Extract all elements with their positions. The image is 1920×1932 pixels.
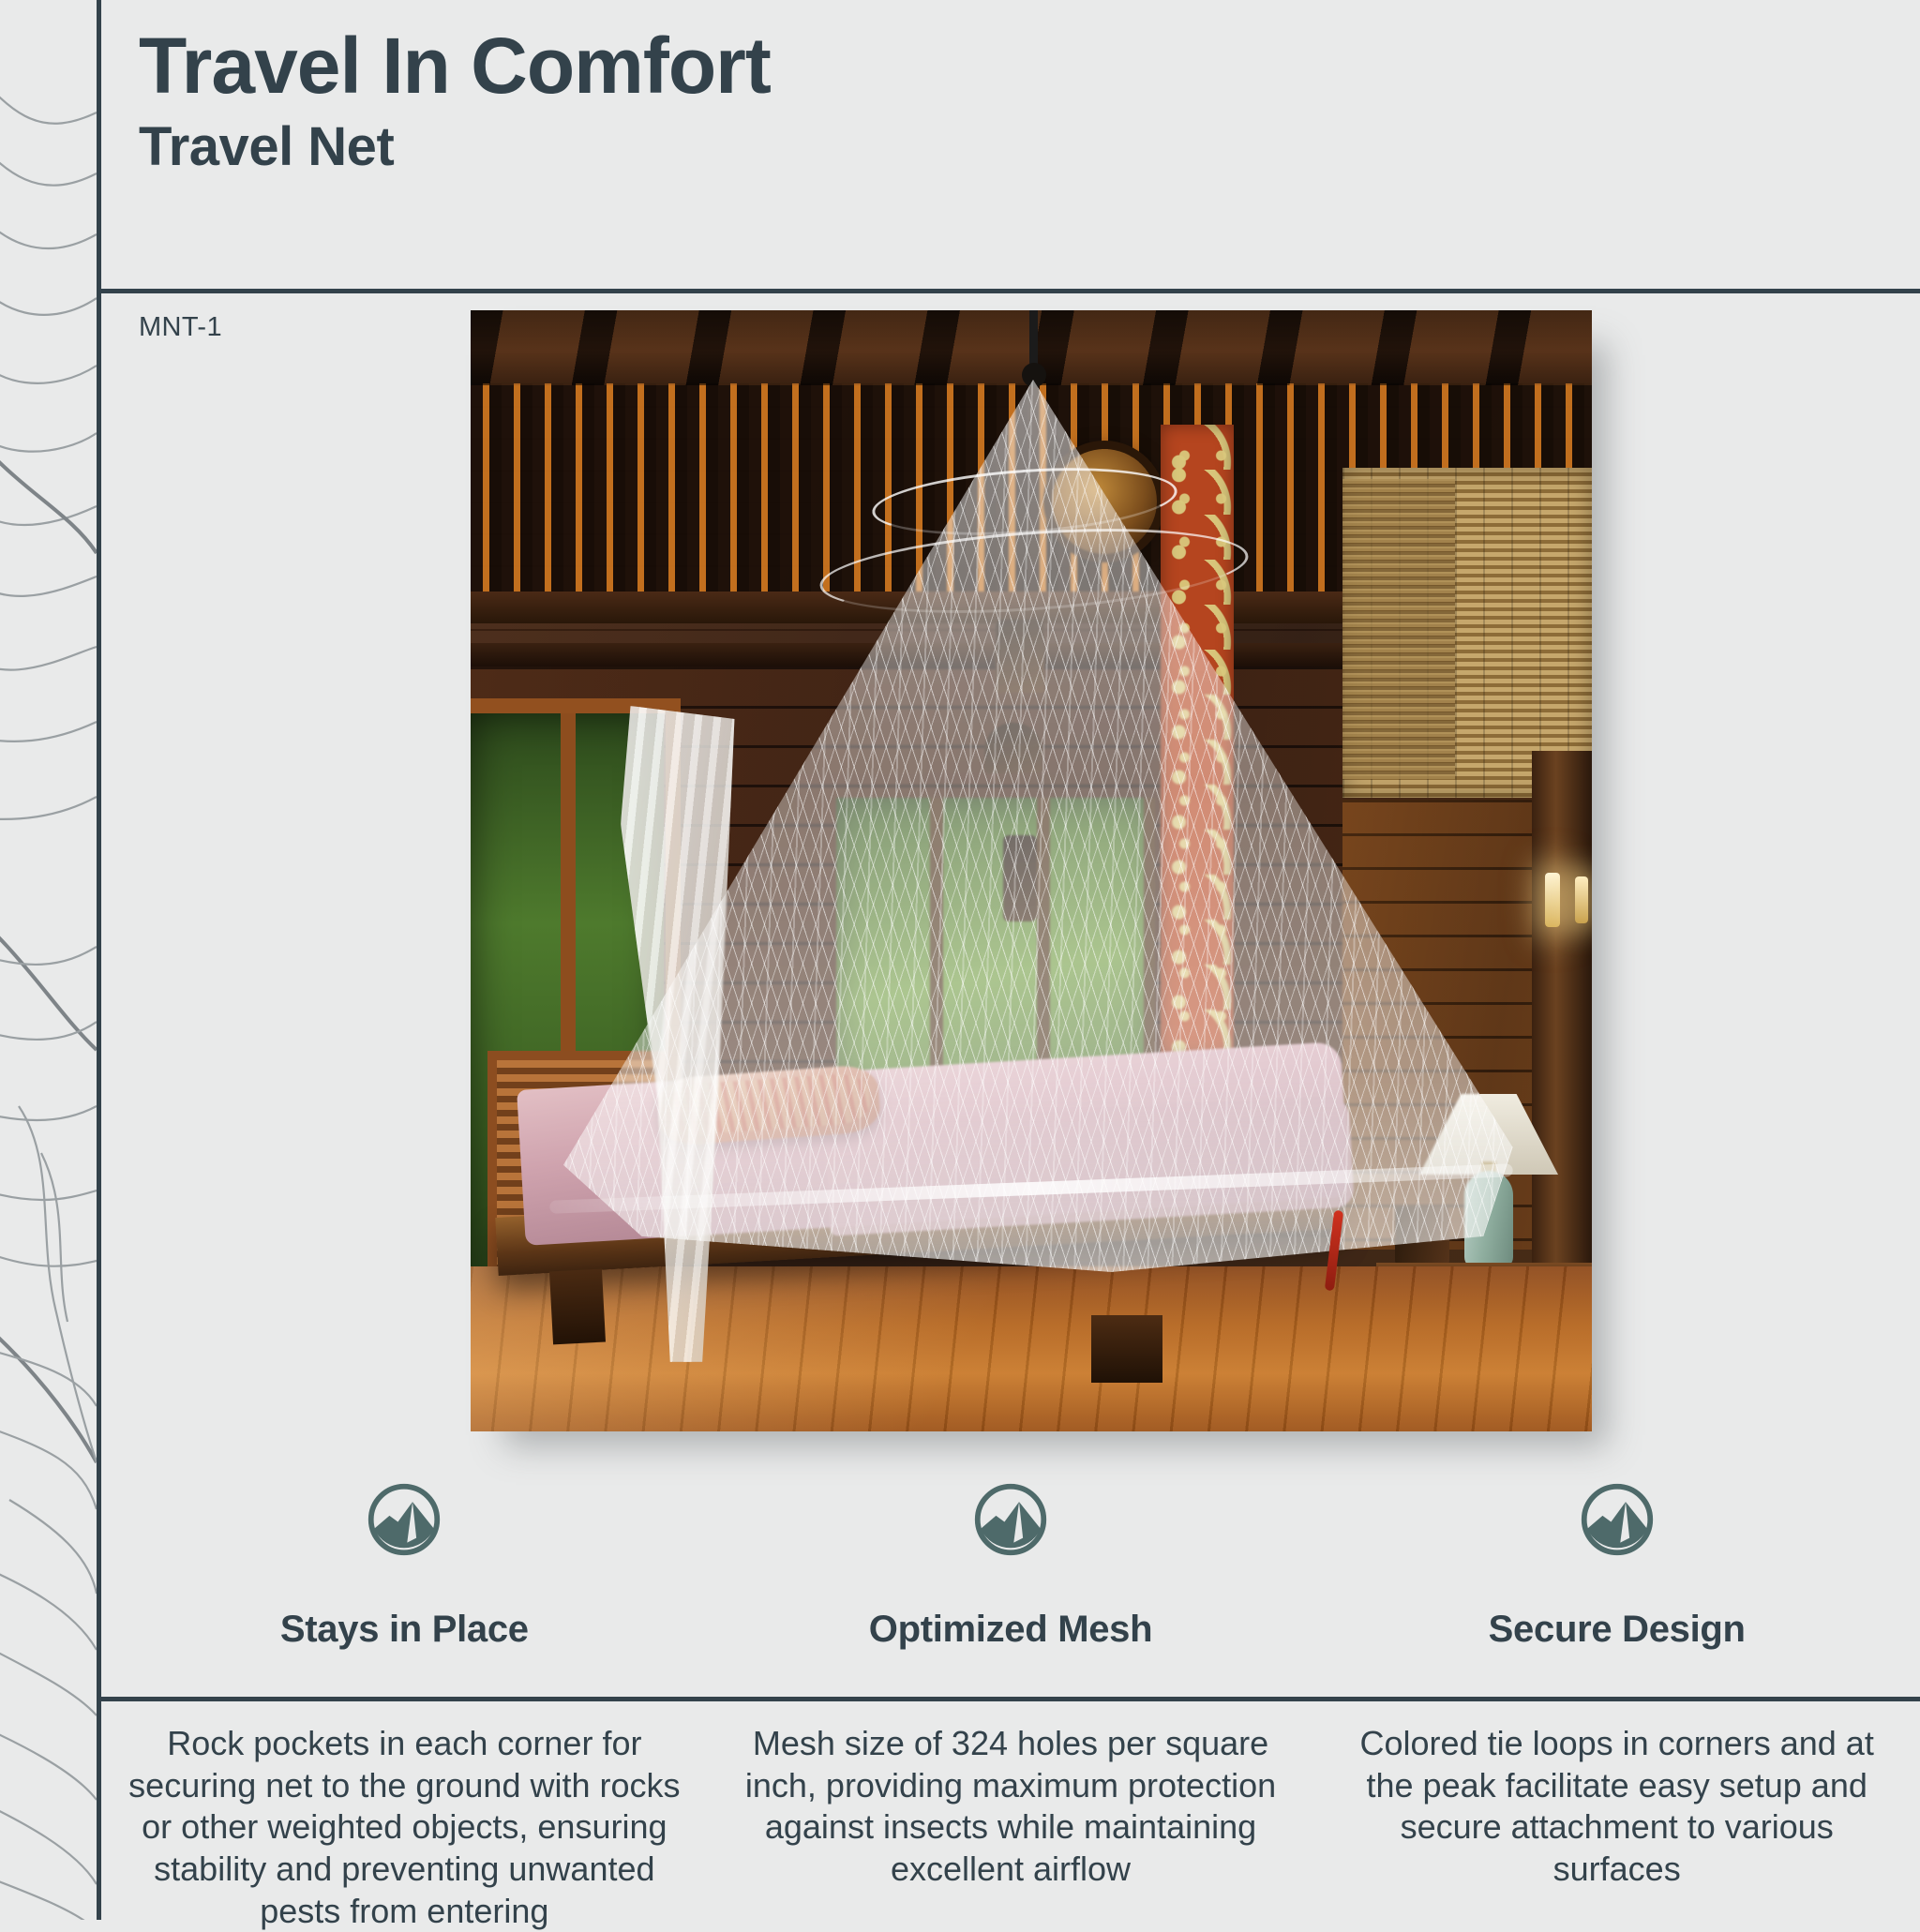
feature-body: Rock pockets in each corner for securing…	[101, 1723, 708, 1920]
feature-column-3: Secure Design	[1313, 1481, 1920, 1697]
right-door-edge	[1532, 751, 1592, 1276]
product-photo	[471, 310, 1592, 1431]
feature-body: Mesh size of 324 holes per square inch, …	[708, 1723, 1314, 1920]
feature-column-2: Optimized Mesh	[708, 1481, 1314, 1697]
feature-body-row: Rock pockets in each corner for securing…	[101, 1723, 1920, 1920]
feature-title: Optimized Mesh	[869, 1609, 1153, 1651]
feature-row: Stays in Place Optimized Mesh Secure Des…	[101, 1481, 1920, 1697]
feature-column-1: Stays in Place	[101, 1481, 708, 1697]
sku-code: MNT-1	[139, 312, 222, 343]
wall-light-1	[1545, 873, 1560, 927]
header: Travel In Comfort Travel Net	[101, 0, 1920, 292]
page-subtitle: Travel Net	[139, 120, 394, 174]
bed-leg-right	[1091, 1315, 1162, 1383]
bed-leg-left	[549, 1269, 606, 1345]
topographic-decoration	[0, 0, 97, 1920]
net-suspension-cord	[1029, 310, 1038, 370]
feature-divider	[97, 1697, 1920, 1701]
feature-title: Stays in Place	[280, 1609, 529, 1651]
photo-scene	[471, 310, 1592, 1431]
header-divider	[97, 289, 1920, 293]
feature-body: Colored tie loops in corners and at the …	[1313, 1723, 1920, 1920]
floor-gloss-highlight	[471, 1266, 1592, 1431]
page-title: Travel In Comfort	[139, 26, 771, 105]
bamboo-blind-second	[1342, 479, 1455, 779]
feature-title: Secure Design	[1489, 1609, 1746, 1651]
mountain-circle-icon	[972, 1481, 1049, 1558]
mountain-circle-icon	[1579, 1481, 1656, 1558]
wall-light-2	[1575, 876, 1588, 923]
mountain-circle-icon	[366, 1481, 442, 1558]
